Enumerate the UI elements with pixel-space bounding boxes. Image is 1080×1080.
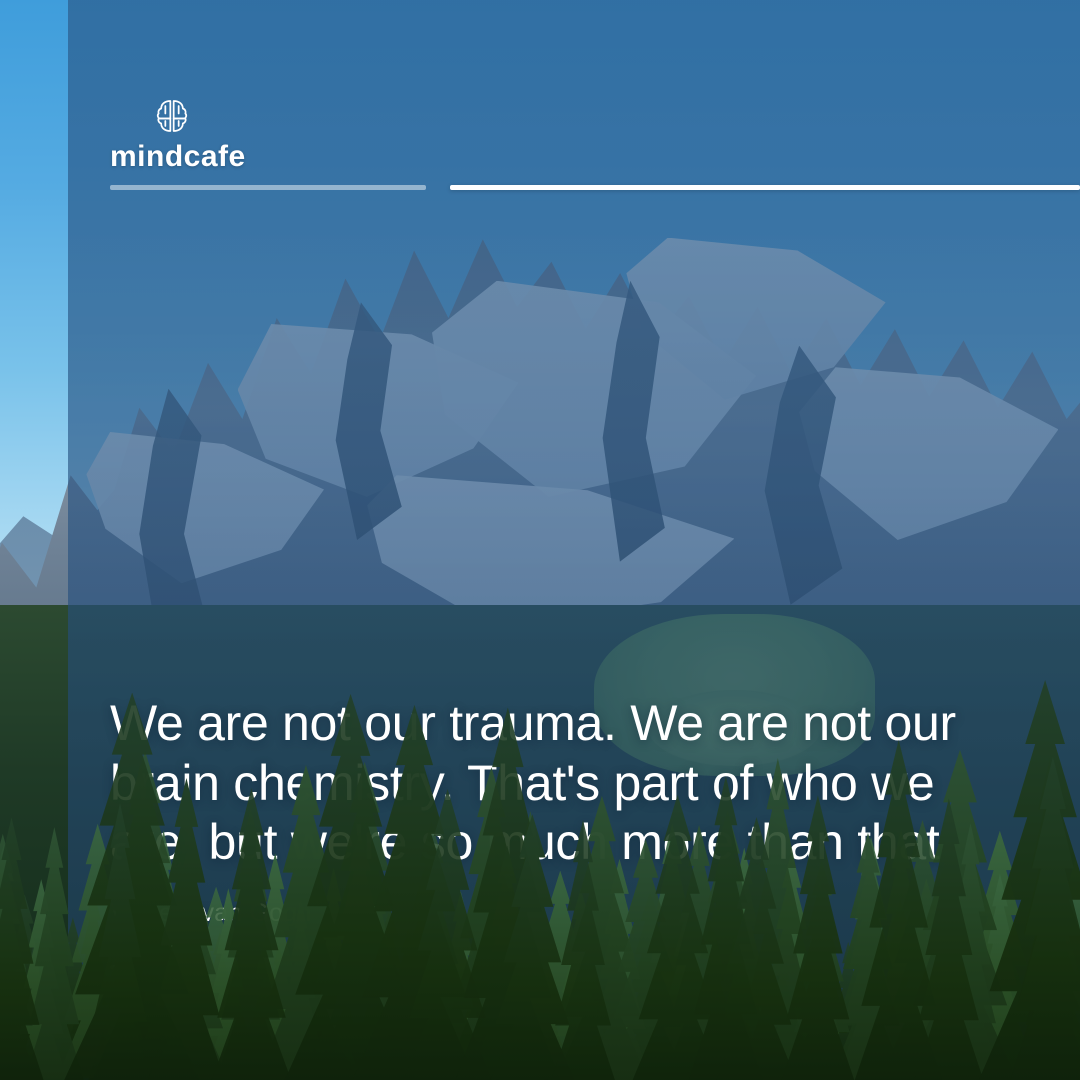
brand-lockup: mindcafe (110, 96, 246, 172)
conifer-tree (988, 757, 1080, 1080)
brain-quadrant-icon (152, 96, 192, 136)
progress-segment-completed[interactable] (110, 185, 426, 190)
conifer-tree (1072, 725, 1080, 1080)
quote-card: mindcafe We are not our trauma. We are n… (0, 0, 1080, 1080)
story-progress-bar[interactable] (110, 184, 1080, 190)
brand-name: mindcafe (110, 142, 246, 172)
progress-segment-active[interactable] (450, 185, 1080, 190)
